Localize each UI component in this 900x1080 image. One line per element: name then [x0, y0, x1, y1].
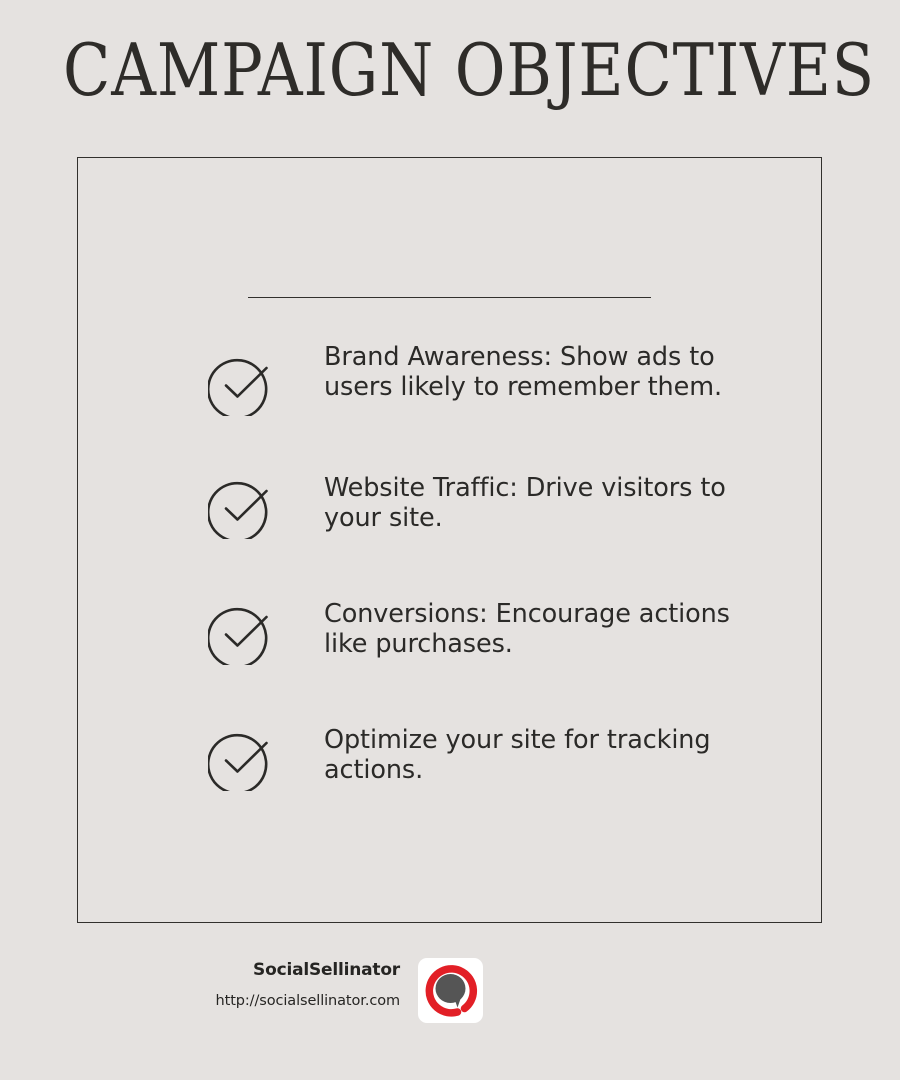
list-item: Conversions: Encourage actions like purc…	[208, 597, 768, 665]
brand-block: SocialSellinator http://socialsellinator…	[150, 959, 400, 1011]
list-item-label: Conversions: Encourage actions like purc…	[324, 597, 768, 659]
list-item: Optimize your site for tracking actions.	[208, 723, 768, 791]
check-circle-icon	[208, 725, 274, 791]
card-divider	[248, 297, 651, 298]
brand-logo	[418, 958, 483, 1023]
check-circle-icon	[208, 473, 274, 539]
brand-url[interactable]: http://socialsellinator.com	[150, 991, 400, 1011]
list-item-label: Optimize your site for tracking actions.	[324, 723, 768, 785]
objectives-list: Brand Awareness: Show ads to users likel…	[208, 340, 768, 791]
brand-name: SocialSellinator	[150, 959, 400, 981]
list-item-label: Website Traffic: Drive visitors to your …	[324, 471, 768, 533]
check-circle-icon	[208, 599, 274, 665]
check-circle-icon	[208, 350, 274, 416]
list-item-label: Brand Awareness: Show ads to users likel…	[324, 340, 768, 402]
list-item: Brand Awareness: Show ads to users likel…	[208, 340, 768, 416]
socialsellinator-logo-icon	[418, 958, 483, 1023]
list-item: Website Traffic: Drive visitors to your …	[208, 471, 768, 539]
poster-canvas: CAMPAIGN OBJECTIVES Brand Awareness: Sho…	[0, 0, 900, 1080]
page-title: CAMPAIGN OBJECTIVES	[63, 28, 837, 112]
footer: SocialSellinator http://socialsellinator…	[0, 955, 900, 1035]
